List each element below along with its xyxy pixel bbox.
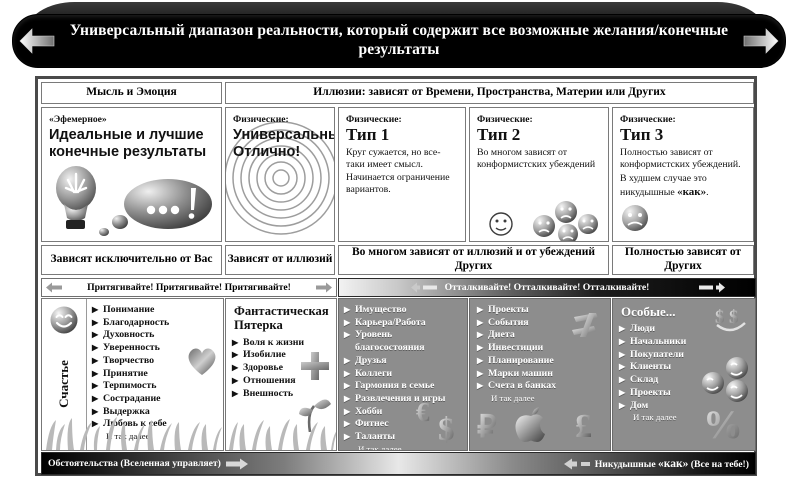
ruble-currency-icon: ₽ bbox=[476, 408, 504, 442]
banner-body: Универсальный диапазон реальности, котор… bbox=[12, 14, 786, 68]
card-type-3-title: Тип 3 bbox=[620, 126, 746, 144]
list-item: Развлечения и игры bbox=[344, 393, 463, 406]
card-type-3: Физические: Тип 3 Полностью зависят от к… bbox=[612, 107, 754, 242]
list-item: Имущество bbox=[344, 304, 463, 317]
list-item: Инвестиции bbox=[477, 342, 606, 355]
card-type-1-kicker: Физические: bbox=[346, 114, 458, 125]
card-type-1: Физические: Тип 1 Круг сужается, но все-… bbox=[338, 107, 466, 242]
card-type-3-body-1: Полностью зависят от конформистских убеж… bbox=[620, 147, 746, 172]
dependency-others-label: Полностью зависят от Других bbox=[613, 246, 753, 274]
repel-bar-label: Отталкивайте! Отталкивайте! Отталкивайте… bbox=[445, 282, 650, 293]
card-type-1-body: Круг сужается, но все-таки имеет смысл. … bbox=[346, 147, 458, 197]
panel-happiness: Счастье Понимание Благодарность Духовнос… bbox=[41, 298, 224, 451]
list-item: Благодарность bbox=[92, 317, 219, 330]
card-ephemeral: «Эфемерное» Идеальные и лучшие конечные … bbox=[41, 107, 222, 242]
apple-logo-icon bbox=[514, 406, 548, 444]
card-universal: Физические: Универсальные Отлично! bbox=[225, 107, 335, 242]
dependency-mixed-label: Во многом зависят от иллюзий и от убежде… bbox=[339, 246, 608, 274]
arrow-left-icon bbox=[46, 282, 62, 293]
list-item: Гармония в семье bbox=[344, 380, 463, 393]
panel-projects: Проекты События Диета Инвестиции Планиро… bbox=[469, 298, 611, 451]
arrow-left-icon bbox=[19, 25, 55, 57]
card-type-3-body-2-bold: «как» bbox=[677, 186, 706, 198]
arrow-right-icon bbox=[743, 25, 779, 57]
list-item: Воля к жизни bbox=[232, 337, 331, 350]
card-ephemeral-kicker: «Эфемерное» bbox=[49, 114, 214, 125]
card-type-3-body-2: В худшем случае это никудышные «как». bbox=[620, 173, 746, 200]
money-face-icon: $ $ bbox=[715, 305, 749, 335]
sprout-icon bbox=[288, 386, 332, 432]
attract-bar-label: Притягивайте! Притягивайте! Притягивайте… bbox=[87, 282, 291, 293]
list-item: Понимание bbox=[92, 304, 219, 317]
fantastic-five-title: Фантастическая Пятерка bbox=[234, 305, 331, 333]
footer-right-label: Никудышные «как» (Все на тебе!) bbox=[595, 458, 749, 470]
dependency-others: Полностью зависят от Других bbox=[612, 245, 754, 275]
footer-right-post: (Все на тебе!) bbox=[688, 459, 749, 470]
header-thought-emotion: Мысль и Эмоция bbox=[41, 82, 222, 104]
arrow-right-icon bbox=[316, 282, 332, 293]
list-item: Выдержка bbox=[92, 406, 219, 419]
panel-fantastic-five: Фантастическая Пятерка Воля к жизни Изоб… bbox=[225, 298, 337, 451]
list-item-etc: И так далее bbox=[477, 393, 606, 404]
footer-left-label: Обстоятельства (Вселенная управляет) bbox=[48, 458, 221, 469]
sad-faces-icon bbox=[484, 196, 604, 242]
arrow-right-icon bbox=[699, 282, 725, 293]
sad-faces-icon bbox=[697, 357, 751, 405]
footer-right-bold: «как» bbox=[658, 458, 688, 470]
card-ephemeral-title: Идеальные и лучшие конечные результаты bbox=[49, 127, 214, 160]
attract-bar: Притягивайте! Притягивайте! Притягивайте… bbox=[41, 278, 337, 297]
svg-text:€: € bbox=[416, 397, 430, 426]
dependency-mixed: Во многом зависят от иллюзий и от убежде… bbox=[338, 245, 609, 275]
svg-text:$: $ bbox=[729, 307, 739, 328]
list-item: Друзья bbox=[344, 355, 463, 368]
svg-text:$: $ bbox=[438, 412, 455, 446]
arrow-left-icon bbox=[411, 282, 437, 293]
list-item: Марки машин bbox=[477, 368, 606, 381]
list-item: Планирование bbox=[477, 355, 606, 368]
dependency-illusions: Зависят от иллюзий bbox=[225, 245, 335, 275]
panel-special: Особые... Люди Начальники Покупатели Кли… bbox=[612, 298, 756, 451]
list-item: Коллеги bbox=[344, 368, 463, 381]
repel-bar: Отталкивайте! Отталкивайте! Отталкивайте… bbox=[338, 278, 756, 297]
percent-icon: % bbox=[703, 404, 745, 444]
svg-text:₽: ₽ bbox=[477, 409, 497, 442]
poster-root: Универсальный диапазон реальности, котор… bbox=[0, 0, 790, 480]
card-type-2: Физические: Тип 2 Во многом зависят от к… bbox=[469, 107, 609, 242]
list-item: Терпимость bbox=[92, 380, 219, 393]
list-item: Любовь к себе bbox=[92, 418, 219, 431]
header-thought-emotion-label: Мысль и Эмоция bbox=[86, 86, 177, 100]
card-type-2-title: Тип 2 bbox=[477, 126, 601, 144]
card-type-2-kicker: Физические: bbox=[477, 114, 601, 125]
sad-face-icon bbox=[617, 200, 653, 236]
dependency-you: Зависят исключительно от Вас bbox=[41, 245, 222, 275]
main-frame: Мысль и Эмоция Иллюзии: зависят от Време… bbox=[35, 76, 757, 476]
card-universal-kicker: Физические: bbox=[233, 114, 327, 125]
card-type-2-body: Во многом зависят от конформистских убеж… bbox=[477, 147, 601, 172]
card-type-1-title: Тип 1 bbox=[346, 126, 458, 144]
happiness-label-column: Счастье bbox=[42, 299, 87, 450]
happiness-vertical-label: Счастье bbox=[56, 360, 72, 408]
list-item: Сострадание bbox=[92, 393, 219, 406]
svg-text:%: % bbox=[703, 404, 743, 444]
arrow-left-icon bbox=[564, 458, 590, 470]
card-universal-title: Универсальные Отлично! bbox=[233, 127, 327, 160]
plus-icon bbox=[570, 313, 604, 339]
panel-properties: Имущество Карьера/Работа Уровень благосо… bbox=[338, 298, 468, 451]
list-item: Духовность bbox=[92, 329, 219, 342]
list-item: Карьера/Работа bbox=[344, 317, 463, 330]
arrow-right-icon bbox=[226, 458, 248, 470]
header-illusions: Иллюзии: зависят от Времени, Пространств… bbox=[225, 82, 754, 104]
pound-currency-icon: £ bbox=[574, 406, 606, 444]
top-banner: Универсальный диапазон реальности, котор… bbox=[4, 2, 786, 68]
footer-right: Никудышные «как» (Все на тебе!) bbox=[564, 453, 749, 474]
banner-title: Универсальный диапазон реальности, котор… bbox=[59, 22, 739, 60]
footer-bar: Обстоятельства (Вселенная управляет) Ник… bbox=[41, 452, 756, 475]
dollar-currency-icon: $ bbox=[437, 410, 467, 446]
dependency-you-label: Зависят исключительно от Вас bbox=[51, 253, 213, 267]
list-item: Счета в банках bbox=[477, 380, 606, 393]
lightbulb-icon bbox=[50, 160, 220, 240]
list-item: Уровень благосостояния bbox=[344, 329, 463, 354]
dependency-illusions-label: Зависят от иллюзий bbox=[228, 253, 333, 267]
card-type-3-kicker: Физические: bbox=[620, 114, 746, 125]
footer-left: Обстоятельства (Вселенная управляет) bbox=[48, 453, 248, 474]
heart-icon bbox=[185, 345, 219, 377]
footer-right-pre: Никудышные bbox=[595, 459, 658, 470]
card-type-3-body-2-end: . bbox=[706, 187, 708, 198]
list-item: Начальники bbox=[619, 336, 751, 349]
smiley-face-icon bbox=[49, 305, 79, 335]
list-item-etc: И так далее bbox=[92, 431, 219, 442]
plus-icon bbox=[300, 351, 330, 381]
svg-text:$: $ bbox=[715, 307, 725, 328]
header-illusions-label: Иллюзии: зависят от Времени, Пространств… bbox=[313, 86, 665, 100]
svg-text:£: £ bbox=[575, 408, 592, 444]
